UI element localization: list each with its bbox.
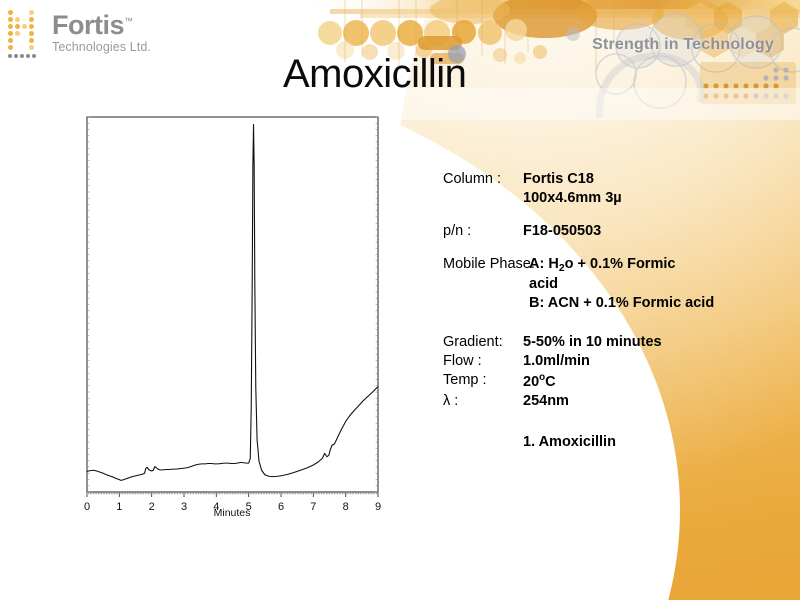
fortis-logo-mark-icon [8, 10, 46, 54]
x-tick-label: 3 [181, 501, 187, 513]
x-tick-label: 2 [149, 501, 155, 513]
column-value-line2: 100x4.6mm 3µ [523, 189, 763, 208]
x-tick-label: 9 [375, 501, 381, 513]
mobile-phase-b-value: B: ACN + 0.1% Formic acid [529, 294, 763, 313]
pn-label: p/n : [443, 222, 523, 241]
param-row-column: Column : Fortis C18 [443, 170, 763, 189]
temp-value-unit: C [545, 374, 555, 390]
pn-value: F18-050503 [523, 222, 601, 241]
mobile-phase-a-subscript: 2 [559, 263, 565, 274]
mobile-phase-a-value: A: H2o + 0.1% Formic [529, 255, 675, 274]
page-title: Amoxicillin [283, 52, 466, 97]
gradient-value: 5-50% in 10 minutes [523, 333, 662, 352]
wavelength-label: λ : [443, 392, 523, 411]
plot-frame [87, 117, 378, 492]
fortis-logo: Fortis™ Technologies Ltd. [8, 10, 151, 55]
flow-value: 1.0ml/min [523, 352, 590, 371]
wavelength-value: 254nm [523, 392, 569, 411]
flow-label: Flow : [443, 352, 523, 371]
x-tick-label: 7 [310, 501, 316, 513]
x-tick-label: 8 [343, 501, 349, 513]
mobile-phase-a-continued: acid [529, 275, 763, 294]
param-row-flow: Flow : 1.0ml/min [443, 352, 763, 371]
x-axis-label: Minutes [214, 507, 251, 519]
x-tick-label: 6 [278, 501, 284, 513]
gradient-label: Gradient: [443, 333, 523, 352]
param-row-wavelength: λ : 254nm [443, 392, 763, 411]
param-row-mobile-phase: Mobile Phase: A: H2o + 0.1% Formic [443, 255, 763, 274]
logo-name: Fortis™ [52, 12, 151, 39]
mobile-phase-label: Mobile Phase: [443, 255, 529, 274]
temp-value: 20oC [523, 371, 556, 392]
param-row-temp: Temp : 20oC [443, 371, 763, 392]
slide-root: Fortis™ Technologies Ltd. Strength in Te… [0, 0, 800, 600]
mobile-phase-a-post: o + 0.1% Formic [565, 256, 676, 272]
logo-subtitle: Technologies Ltd. [52, 41, 151, 55]
x-tick-label: 1 [116, 501, 122, 513]
mobile-phase-a-pre: A: H [529, 256, 559, 272]
column-label: Column : [443, 170, 523, 189]
chromatogram-chart: 0123456789 Minutes [80, 112, 390, 522]
chromatogram-graphic: 0123456789 Minutes [80, 112, 390, 522]
method-parameters: Column : Fortis C18 100x4.6mm 3µ p/n : F… [443, 170, 763, 452]
x-tick-label: 0 [84, 501, 90, 513]
logo-name-text: Fortis [52, 10, 124, 40]
logo-underline-dots [8, 54, 46, 58]
peak-assignment-1: 1. Amoxicillin [523, 433, 763, 452]
temp-value-number: 20 [523, 374, 539, 390]
tagline: Strength in Technology [592, 36, 774, 54]
logo-trademark: ™ [124, 16, 133, 26]
param-row-pn: p/n : F18-050503 [443, 222, 763, 241]
temp-label: Temp : [443, 371, 523, 390]
param-row-gradient: Gradient: 5-50% in 10 minutes [443, 333, 763, 352]
logo-wordmark: Fortis™ Technologies Ltd. [52, 10, 151, 55]
column-value: Fortis C18 [523, 170, 594, 189]
logo-dot-grid [8, 10, 46, 51]
